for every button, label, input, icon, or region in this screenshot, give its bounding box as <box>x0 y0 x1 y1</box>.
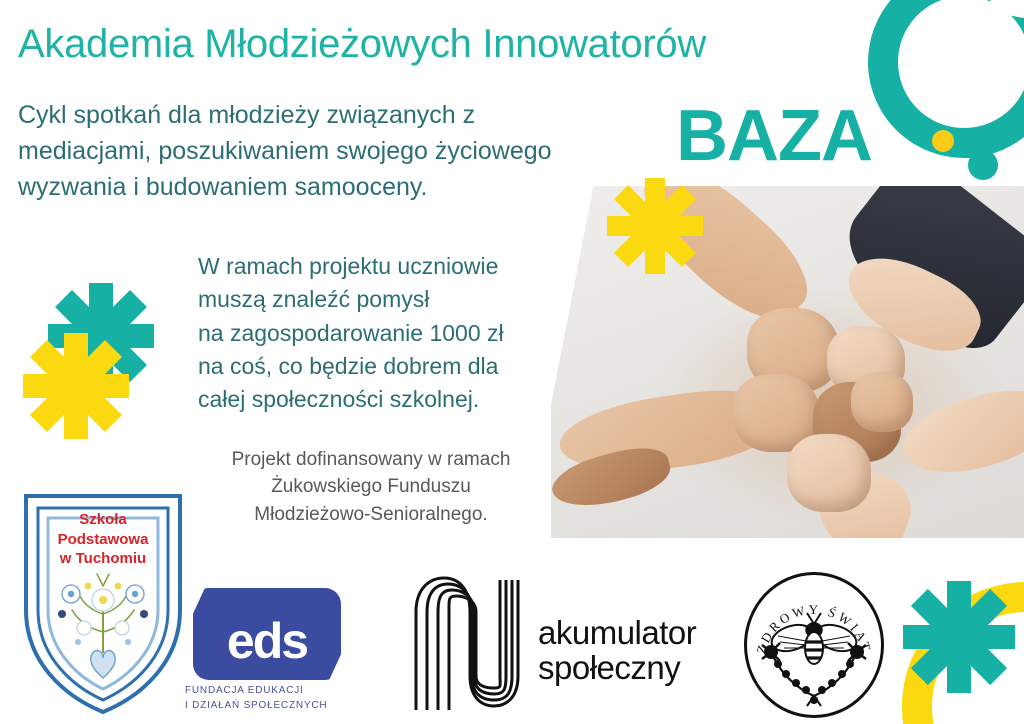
funding-note-block: Projekt dofinansowany w ramach Żukowskie… <box>176 446 566 528</box>
akumulator-line-2: społeczny <box>538 651 728 686</box>
school-logo-line-1: Szkoła <box>14 510 192 530</box>
asterisk-yellow-photo-decoration <box>605 176 705 276</box>
logo-szkola-podstawowa-w-tuchomiu: Szkoła Podstawowa w Tuchomiu <box>14 482 192 720</box>
funding-note-line-2: Żukowskiego Funduszu <box>176 473 566 500</box>
akumulator-line-1: akumulator <box>538 616 728 651</box>
dot-teal-decoration <box>968 150 998 180</box>
project-description-line-2: muszą znaleźć pomysł <box>198 283 598 316</box>
project-description-line-3: na zagospodarowanie 1000 zł <box>198 317 598 350</box>
eds-subtitle: FUNDACJA EDUKACJI I DZIAŁAŃ SPOŁECZNYCH <box>185 684 350 713</box>
dot-yellow-decoration <box>932 130 954 152</box>
school-logo-line-3: w Tuchomiu <box>14 549 192 569</box>
logo-akumulator-spoleczny: akumulator społeczny <box>410 572 720 720</box>
poster-canvas: BAZA Akademia Młodzieżowych Innowatorów … <box>0 0 1024 724</box>
logo-eds-fundacja: eds FUNDACJA EDUKACJI I DZIAŁAŃ SPOŁECZN… <box>185 588 350 720</box>
project-description-block: W ramach projektu uczniowie muszą znaleź… <box>198 250 598 417</box>
page-title: Akademia Młodzieżowych Innowatorów <box>18 22 958 66</box>
eds-subtitle-line-2: I DZIAŁAŃ SPOŁECZNYCH <box>185 699 350 714</box>
project-description-line-1: W ramach projektu uczniowie <box>198 250 598 283</box>
school-logo-text: Szkoła Podstawowa w Tuchomiu <box>14 510 192 569</box>
eds-subtitle-line-1: FUNDACJA EDUKACJI <box>185 684 350 699</box>
bee-wreath-icon: ZDROWY ŚWIAT <box>744 572 884 718</box>
lead-paragraph: Cykl spotkań dla młodzieży związanych z … <box>18 98 593 205</box>
baza-wordmark: BAZA <box>676 100 872 172</box>
logo-zdrowy-swiat: ZDROWY ŚWIAT <box>744 572 884 718</box>
project-description-line-5: całej społeczności szkolnej. <box>198 383 598 416</box>
asterisk-teal-bottom-right-decoration <box>900 578 1018 696</box>
funding-note-line-1: Projekt dofinansowany w ramach <box>176 446 566 473</box>
project-description-line-4: na coś, co będzie dobrem dla <box>198 350 598 383</box>
asterisk-yellow-left-decoration <box>20 330 132 442</box>
akumulator-wordmark: akumulator społeczny <box>538 616 728 685</box>
eds-wordmark: eds <box>193 616 341 666</box>
akumulator-n-monogram-icon <box>410 572 535 712</box>
school-logo-line-2: Podstawowa <box>14 530 192 550</box>
funding-note-line-3: Młodzieżowo-Senioralnego. <box>176 501 566 528</box>
